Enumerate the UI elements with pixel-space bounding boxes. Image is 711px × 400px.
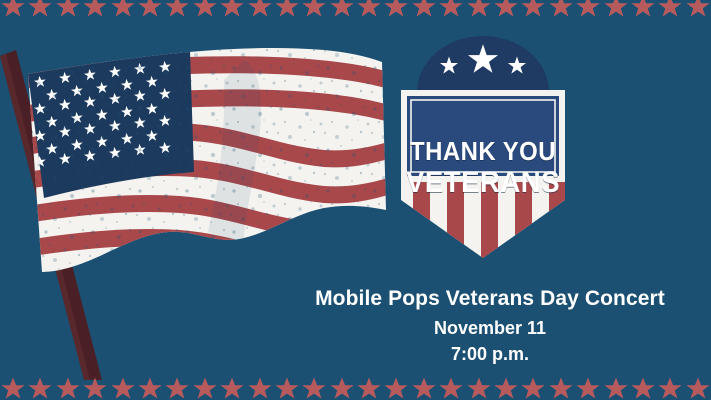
star-icon bbox=[657, 376, 683, 400]
star-icon bbox=[110, 0, 136, 20]
star-icon bbox=[603, 0, 629, 20]
star-icon bbox=[630, 0, 656, 20]
veterans-day-concert-poster: THANK YOU VETERANS Mobile Pops Veterans … bbox=[0, 0, 711, 400]
badge-line-2: VETERANS bbox=[400, 168, 566, 198]
star-icon bbox=[301, 0, 327, 20]
page-title: Mobile Pops Veterans Day Concert bbox=[280, 286, 700, 312]
star-icon bbox=[411, 0, 437, 20]
badge-arc bbox=[417, 36, 549, 92]
star-icon bbox=[82, 0, 108, 20]
star-icon bbox=[493, 376, 519, 400]
star-icon bbox=[466, 0, 492, 20]
star-icon bbox=[685, 0, 711, 20]
star-icon bbox=[27, 0, 53, 20]
star-icon bbox=[356, 0, 382, 20]
star-icon bbox=[383, 0, 409, 20]
event-time: 7:00 p.m. bbox=[280, 341, 700, 367]
star-icon bbox=[438, 0, 464, 20]
star-icon bbox=[657, 0, 683, 20]
star-icon bbox=[466, 376, 492, 400]
star-icon bbox=[520, 376, 546, 400]
star-icon bbox=[685, 376, 711, 400]
star-icon bbox=[329, 0, 355, 20]
star-icon bbox=[575, 0, 601, 20]
star-icon bbox=[247, 0, 273, 20]
event-date: November 11 bbox=[280, 315, 700, 341]
star-icon bbox=[411, 376, 437, 400]
star-icon bbox=[0, 0, 26, 20]
star-icon bbox=[137, 0, 163, 20]
star-icon bbox=[192, 0, 218, 20]
top-star-border bbox=[0, 0, 711, 22]
star-icon bbox=[603, 376, 629, 400]
star-icon bbox=[274, 0, 300, 20]
star-icon bbox=[164, 0, 190, 20]
star-icon bbox=[493, 0, 519, 20]
event-details: Mobile Pops Veterans Day Concert Novembe… bbox=[280, 286, 700, 367]
star-icon bbox=[219, 0, 245, 20]
star-icon bbox=[55, 0, 81, 20]
star-icon bbox=[548, 0, 574, 20]
star-icon bbox=[548, 376, 574, 400]
thank-you-veterans-shield-badge: THANK YOU VETERANS bbox=[393, 32, 573, 262]
star-icon bbox=[630, 376, 656, 400]
star-icon bbox=[438, 376, 464, 400]
badge-line-1: THANK YOU bbox=[400, 138, 566, 164]
star-icon bbox=[520, 0, 546, 20]
star-icon bbox=[575, 376, 601, 400]
